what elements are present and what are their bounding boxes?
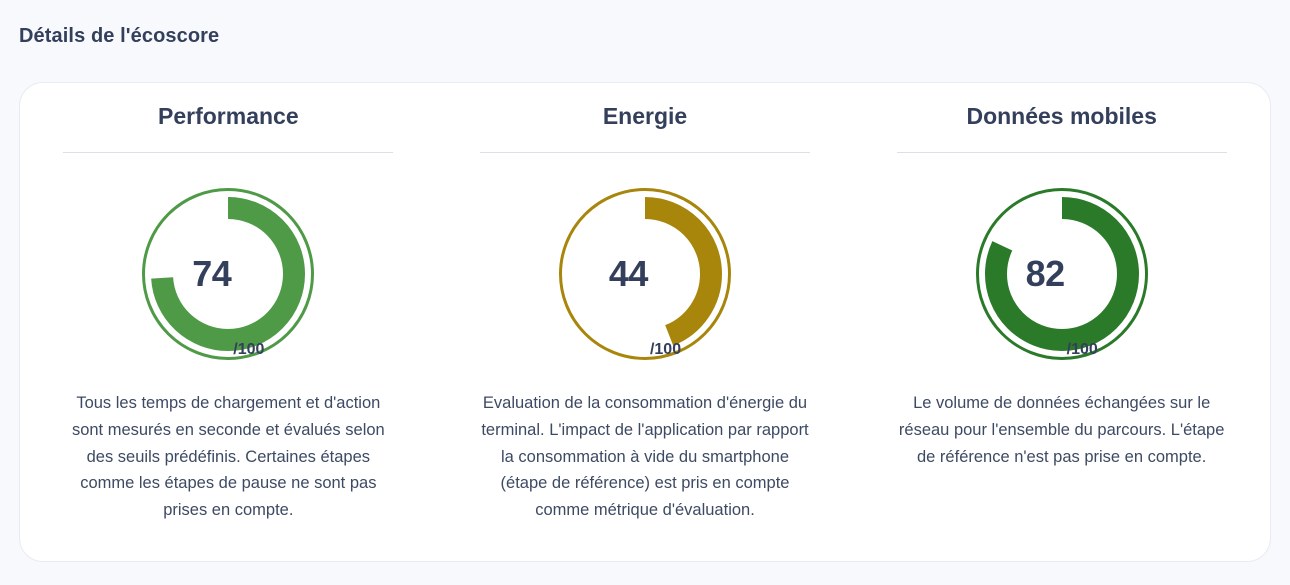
metric-divider <box>63 152 393 153</box>
gauge-donnees-mobiles: 82 /100 <box>974 186 1150 362</box>
metric-description: Tous les temps de chargement et d'action… <box>63 390 393 524</box>
gauge-score-label: 44 /100 <box>557 186 733 362</box>
page-title: Détails de l'écoscore <box>19 23 219 49</box>
score-value: 44 <box>609 256 648 292</box>
ecoscore-card: Performance 74 /100 Tous les temps de ch… <box>19 82 1271 562</box>
score-value: 82 <box>1026 256 1065 292</box>
metric-divider <box>480 152 810 153</box>
metric-title: Energie <box>603 100 687 132</box>
gauge-score-label: 82 /100 <box>974 186 1150 362</box>
metric-title: Données mobiles <box>966 100 1156 132</box>
metric-performance: Performance 74 /100 Tous les temps de ch… <box>20 83 437 524</box>
metric-donnees-mobiles: Données mobiles 82 /100 Le volume de don… <box>853 83 1270 470</box>
score-value: 74 <box>192 256 231 292</box>
score-max: /100 <box>650 342 681 362</box>
gauge-score-label: 74 /100 <box>140 186 316 362</box>
score-max: /100 <box>1067 342 1098 362</box>
metric-title: Performance <box>158 100 299 132</box>
metric-description: Le volume de données échangées sur le ré… <box>897 390 1227 470</box>
metric-description: Evaluation de la consommation d'énergie … <box>480 390 810 524</box>
gauge-energie: 44 /100 <box>557 186 733 362</box>
score-max: /100 <box>233 342 264 362</box>
metric-energie: Energie 44 /100 Evaluation de la consomm… <box>437 83 854 524</box>
metric-divider <box>897 152 1227 153</box>
gauge-performance: 74 /100 <box>140 186 316 362</box>
ecoscore-details-page: Détails de l'écoscore Performance 74 /10… <box>0 0 1290 585</box>
